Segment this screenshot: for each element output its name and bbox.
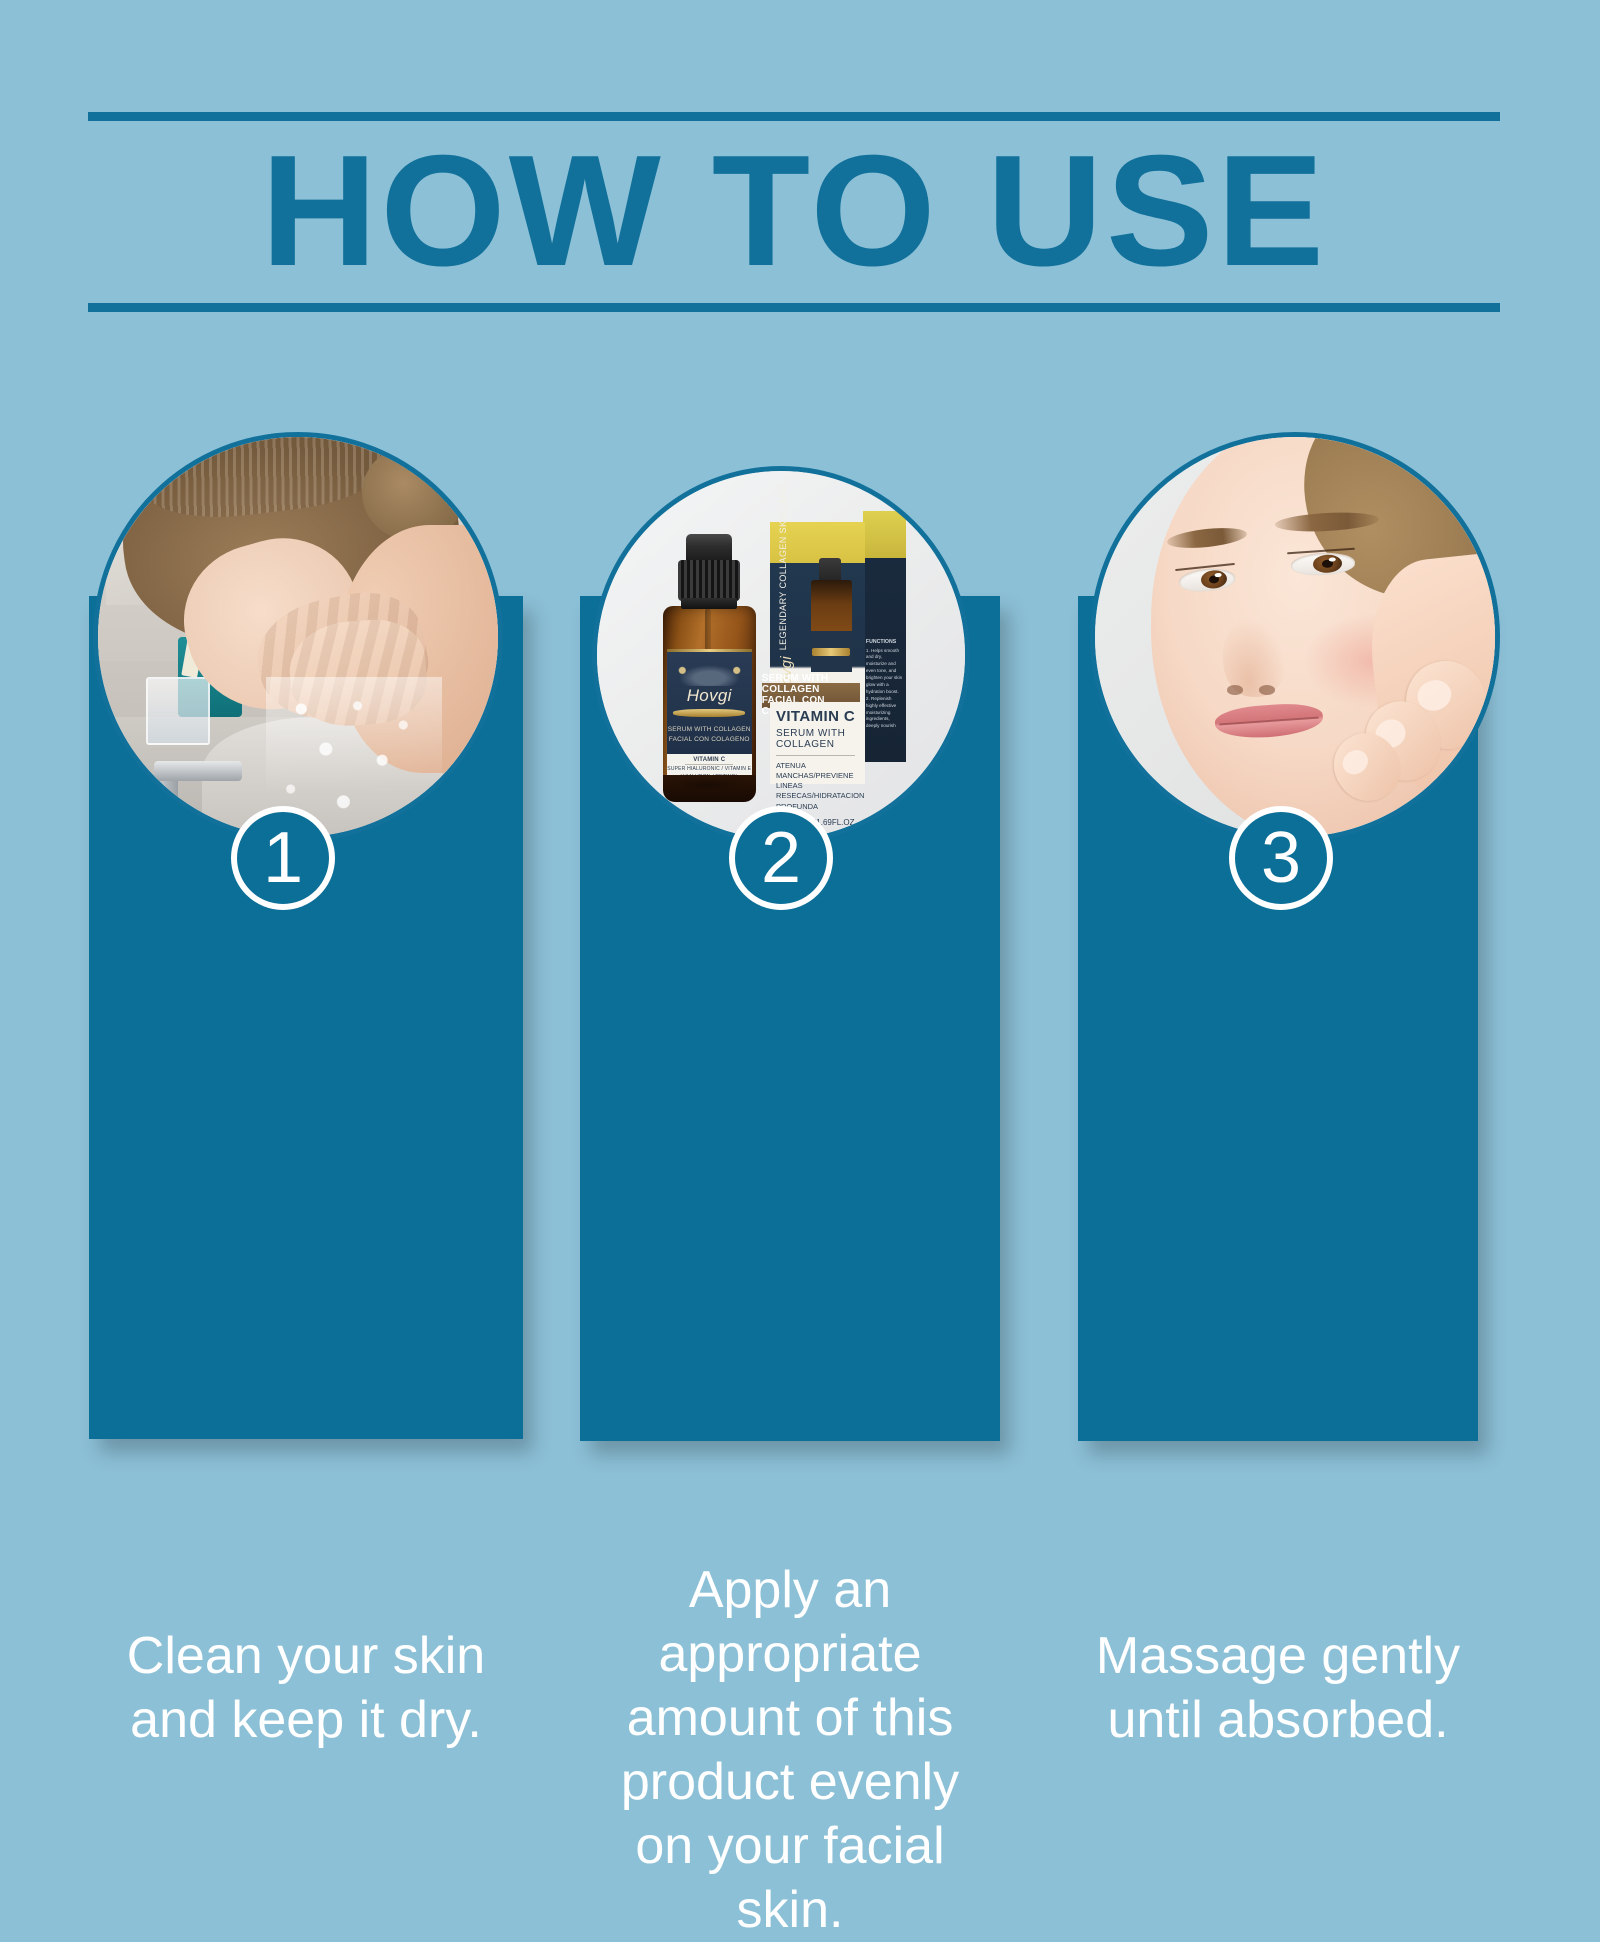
step-3-image (1090, 432, 1500, 842)
product-box: Hovgi LEGENDARY COLLAGEN SKINCARE FUNCTI… (770, 511, 906, 783)
label-white-divider (685, 764, 733, 765)
step-1-number-badge: 1 (231, 806, 335, 910)
box-divider (776, 755, 855, 756)
box-side-heading: FUNCTIONS (866, 639, 903, 647)
faucet-shape (154, 761, 242, 781)
eye-glint (1215, 572, 1222, 577)
nostril-right (1259, 685, 1275, 695)
step-3-text: Massage gently until absorbed. (1078, 1624, 1478, 1752)
box-top-side (863, 511, 907, 557)
label-subtitle-line-2: FACIAL CON COLAGENO (667, 735, 752, 745)
woman-touching-cheek-photo (1095, 437, 1495, 837)
box-side-copy: FUNCTIONS 1. Helps smooth and dry, moist… (864, 637, 905, 730)
eye-glint (1328, 557, 1336, 562)
box-vertical-tagline: LEGENDARY COLLAGEN SKINCARE (778, 484, 788, 650)
step-3-number-badge: 3 (1229, 806, 1333, 910)
box-description: ATENUA MANCHAS/PREVIENE LINEAS RESECAS/H… (776, 761, 861, 812)
serum-bottle-and-box-photo: Hovgi LEGENDARY COLLAGEN SKINCARE FUNCTI… (597, 471, 965, 839)
fingernail (1338, 745, 1373, 779)
step-2-image: Hovgi LEGENDARY COLLAGEN SKINCARE FUNCTI… (592, 466, 970, 844)
lip-line (1219, 717, 1318, 725)
box-bottom-panel: VITAMIN C SERUM WITH COLLAGEN ATENUA MAN… (770, 702, 865, 784)
iris-right (1312, 554, 1342, 574)
page-header: HOW TO USE (88, 112, 1500, 312)
label-gold-band (673, 709, 745, 717)
step-2-number-badge: 2 (729, 806, 833, 910)
box-title: VITAMIN C (776, 708, 861, 725)
step-1-image (93, 432, 503, 842)
step-1-text: Clean your skin and keep it dry. (89, 1624, 523, 1752)
woman-washing-face-photo (98, 437, 498, 837)
box-illustration-gold-band (812, 648, 850, 656)
dropper-cap-grip (678, 560, 740, 600)
glass-cup-shape (146, 677, 210, 745)
label-vitamin-c: VITAMIN C (667, 757, 752, 763)
dropper-collar (681, 598, 737, 609)
bottle-shadow (671, 778, 745, 791)
nostril-left (1227, 685, 1243, 695)
box-band-line-1: SERUM WITH COLLAGEN (762, 673, 860, 695)
hair-strands (136, 432, 387, 528)
dropper-cap-top (686, 534, 732, 564)
page-title: HOW TO USE (74, 121, 1514, 303)
title-rule-bottom (88, 303, 1500, 312)
label-brand-name: Hovgi (667, 686, 752, 706)
label-ornament (667, 660, 752, 687)
bottle-label: Hovgi SERUM WITH COLLAGEN FACIAL CON COL… (667, 652, 752, 754)
step-2-text: Apply an appropriate amount of this prod… (580, 1558, 1000, 1942)
title-rule-top (88, 112, 1500, 121)
iris-left (1201, 569, 1228, 589)
box-subtitle: SERUM WITH COLLAGEN (776, 728, 861, 750)
label-subtitle-line-1: SERUM WITH COLLAGEN (667, 725, 752, 735)
serum-bottle: Hovgi SERUM WITH COLLAGEN FACIAL CON COL… (660, 534, 759, 803)
box-side-paragraph: 1. Helps smooth and dry, moisturize and … (866, 648, 903, 730)
label-subtitle: SERUM WITH COLLAGEN FACIAL CON COLAGENO (667, 725, 752, 745)
